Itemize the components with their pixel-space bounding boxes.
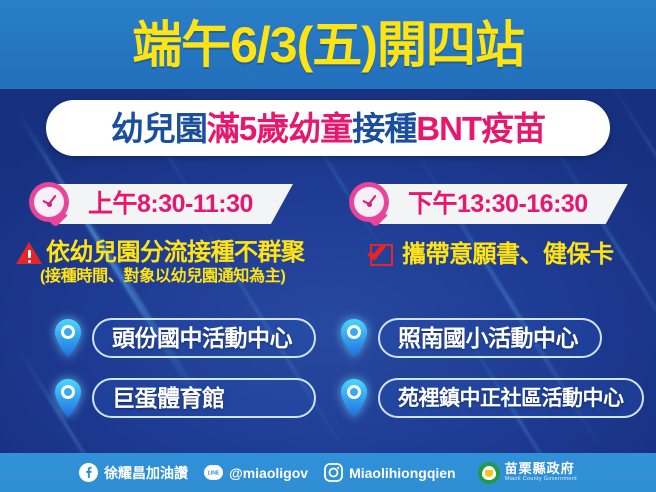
time-row: 上午8:30-11:30 下午13:30-16:30 xyxy=(0,176,656,232)
venue-list: 頭份國中活動中心 照南國小活動中心 xyxy=(0,310,656,428)
venue-item-2[interactable]: 巨蛋體育館 xyxy=(52,374,316,422)
miaoli-county-logo xyxy=(478,462,500,484)
time-label-morning: 上午8:30-11:30 xyxy=(88,192,253,217)
page-title: 端午6/3(五)開四站 xyxy=(132,20,524,70)
social-line-label: @miaoligov xyxy=(229,466,308,480)
instagram-icon[interactable] xyxy=(324,463,343,482)
clock-icon xyxy=(28,180,72,228)
subtitle-segment-2: 幼童 xyxy=(288,110,352,147)
venue-pill-3[interactable]: 苑裡鎮中正社區活動中心 xyxy=(378,378,644,418)
subtitle-segment-3: 接種 xyxy=(352,110,416,147)
warning-triangle-icon xyxy=(16,241,42,265)
venue-pill-1[interactable]: 照南國小活動中心 xyxy=(378,318,602,358)
government-name-cn: 苗栗縣政府 xyxy=(505,462,577,475)
time-plate-morning: 上午8:30-11:30 xyxy=(58,184,293,224)
notice-distribution: 依幼兒園分流接種不群聚 (接種時間、對象以幼兒園通知為主) xyxy=(16,240,361,286)
notice-distribution-sub: (接種時間、對象以幼兒園通知為主) xyxy=(16,268,361,286)
social-line[interactable]: LINE @miaoligov xyxy=(204,463,308,482)
svg-text:LINE: LINE xyxy=(208,471,220,477)
venue-item-3[interactable]: 苑裡鎮中正社區活動中心 xyxy=(338,374,644,422)
map-pin-icon xyxy=(52,377,84,419)
line-icon[interactable]: LINE xyxy=(204,463,223,482)
venue-label-2: 巨蛋體育館 xyxy=(112,387,225,410)
notice-bring-documents-main: 攜帶意願書、健保卡 xyxy=(402,242,614,267)
time-label-afternoon: 下午13:30-16:30 xyxy=(408,192,588,217)
subtitle-pill: 幼兒園滿5歲幼童接種BNT疫苗 xyxy=(46,100,610,156)
map-pin-icon xyxy=(338,317,370,359)
government-name-en: Miaoli County Government xyxy=(505,477,577,483)
venue-pill-0[interactable]: 頭份國中活動中心 xyxy=(92,318,316,358)
social-instagram-label: Miaolihiongqien xyxy=(349,466,456,480)
social-facebook-label: 徐耀昌加油讚 xyxy=(104,466,188,480)
subtitle-segment-1: 滿5歲 xyxy=(207,110,288,147)
checkbox-checked-icon xyxy=(368,242,396,268)
facebook-icon[interactable] xyxy=(79,463,98,482)
time-plate-afternoon: 下午13:30-16:30 xyxy=(378,184,628,224)
header-band: 端午6/3(五)開四站 xyxy=(0,0,656,89)
venue-item-1[interactable]: 照南國小活動中心 xyxy=(338,314,602,362)
notice-bring-documents: 攜帶意願書、健保卡 xyxy=(368,242,648,268)
government-logo: 苗栗縣政府 Miaoli County Government xyxy=(478,462,577,484)
map-pin-icon xyxy=(52,317,84,359)
venue-label-3: 苑裡鎮中正社區活動中心 xyxy=(398,388,624,409)
poster-root: 端午6/3(五)開四站 幼兒園滿5歲幼童接種BNT疫苗 上午8:30-11:30… xyxy=(0,0,656,492)
social-facebook[interactable]: 徐耀昌加油讚 xyxy=(79,463,188,482)
subtitle-text: 幼兒園滿5歲幼童接種BNT疫苗 xyxy=(111,112,545,145)
venue-label-1: 照南國小活動中心 xyxy=(398,327,578,350)
social-instagram[interactable]: Miaolihiongqien xyxy=(324,463,456,482)
subtitle-segment-4: BNT疫苗 xyxy=(416,110,545,147)
notice-distribution-main: 依幼兒園分流接種不群聚 xyxy=(46,240,305,265)
footer-bar: 徐耀昌加油讚 LINE @miaoligov Miaolihiongqien 苗… xyxy=(0,453,656,492)
venue-label-0: 頭份國中活動中心 xyxy=(112,327,292,350)
time-slot-morning: 上午8:30-11:30 xyxy=(28,176,293,232)
subtitle-segment-0: 幼兒園 xyxy=(111,110,207,147)
venue-item-0[interactable]: 頭份國中活動中心 xyxy=(52,314,316,362)
clock-icon xyxy=(348,180,392,228)
map-pin-icon xyxy=(338,377,370,419)
time-slot-afternoon: 下午13:30-16:30 xyxy=(348,176,628,232)
venue-pill-2[interactable]: 巨蛋體育館 xyxy=(92,378,316,418)
